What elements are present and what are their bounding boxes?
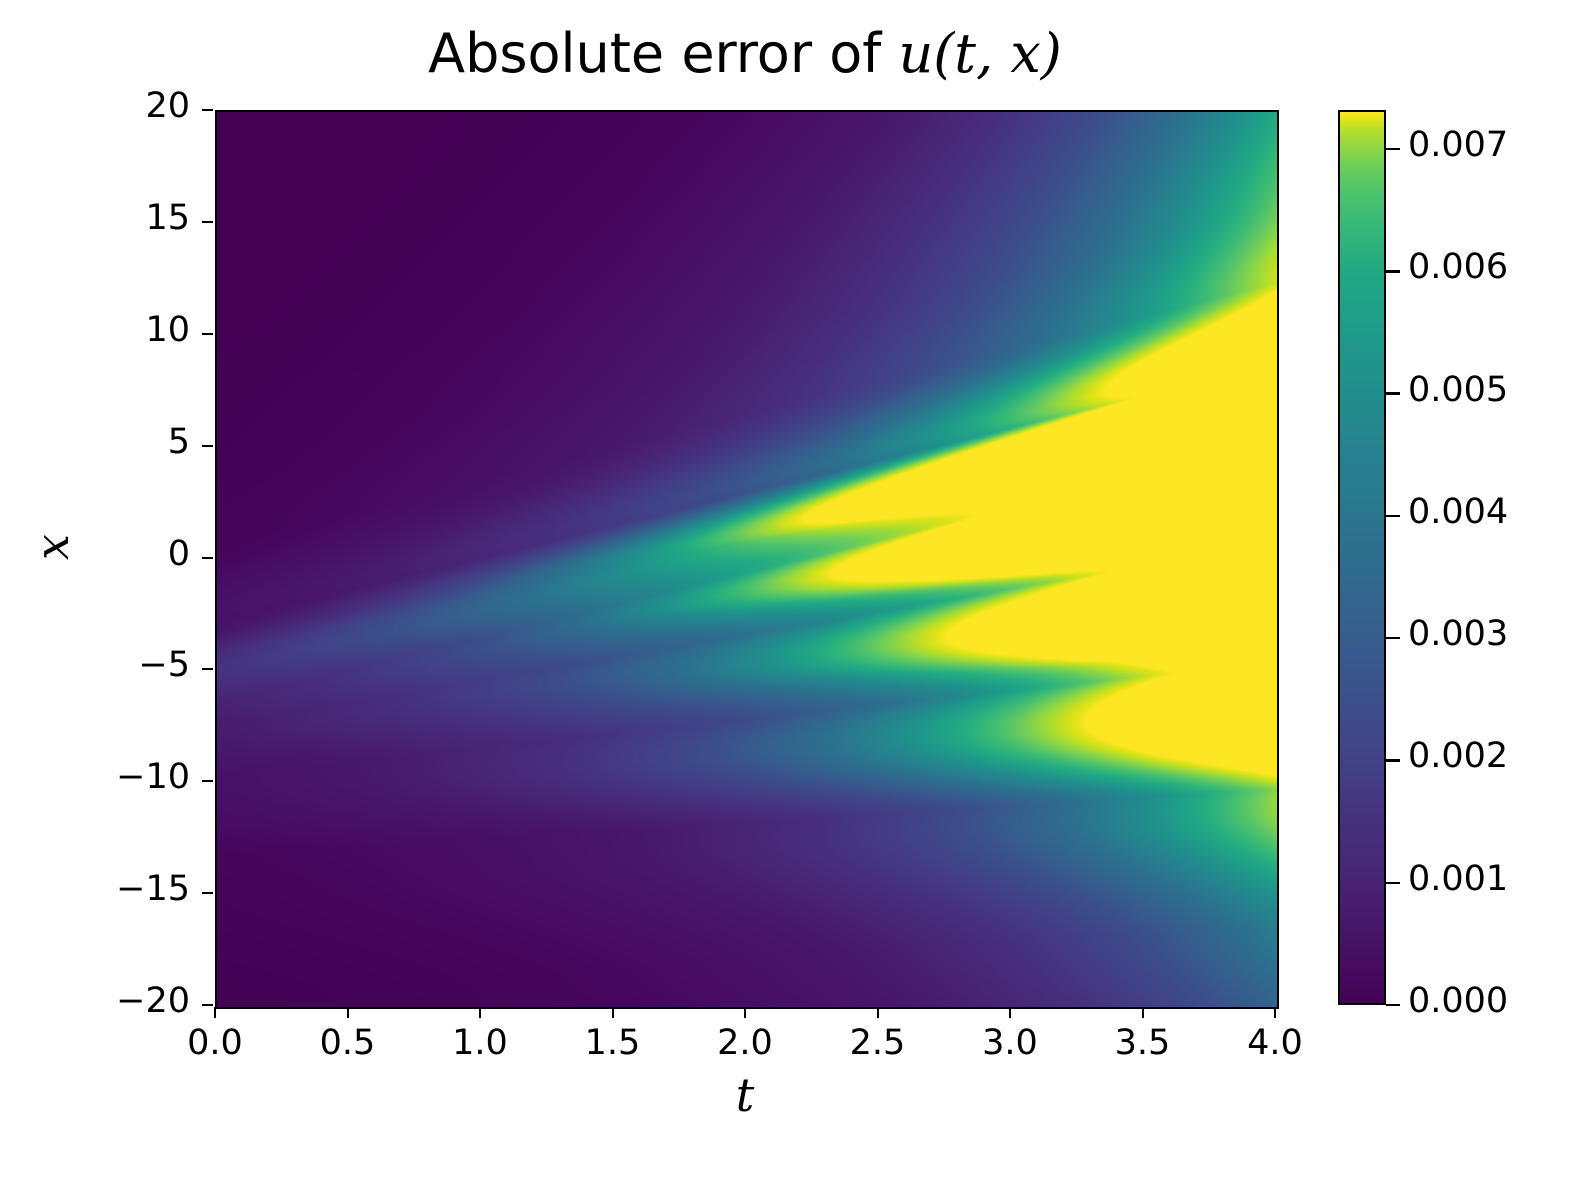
y-tick-label: −10 — [40, 757, 190, 797]
x-tick-label: 4.0 — [1215, 1023, 1335, 1063]
colorbar-gradient — [1338, 110, 1386, 1005]
heatmap-image — [217, 112, 1277, 1007]
x-tick-label: 3.5 — [1083, 1023, 1203, 1063]
y-tick-mark — [202, 445, 213, 447]
heatmap-plot-area — [215, 110, 1279, 1009]
colorbar-tick-mark — [1386, 148, 1400, 150]
title-prefix: Absolute error of — [428, 22, 898, 85]
colorbar-tick-label: 0.003 — [1408, 614, 1508, 654]
x-tick-label: 1.0 — [420, 1023, 540, 1063]
y-tick-label: 20 — [40, 86, 190, 126]
colorbar-tick-label: 0.005 — [1408, 370, 1508, 410]
x-tick-label: 3.0 — [950, 1023, 1070, 1063]
y-axis-label: x — [25, 447, 79, 647]
x-tick-mark — [214, 1007, 216, 1018]
x-tick-mark — [744, 1007, 746, 1018]
x-tick-mark — [1142, 1007, 1144, 1018]
x-tick-mark — [1274, 1007, 1276, 1018]
y-tick-mark — [202, 109, 213, 111]
x-tick-mark — [877, 1007, 879, 1018]
x-tick-label: 0.0 — [155, 1023, 275, 1063]
x-tick-label: 2.0 — [685, 1023, 805, 1063]
x-tick-label: 1.5 — [553, 1023, 673, 1063]
colorbar-tick-label: 0.004 — [1408, 492, 1508, 532]
y-tick-mark — [202, 780, 213, 782]
x-tick-mark — [612, 1007, 614, 1018]
figure-root: Absolute error of u(t, x) 0.00.51.01.52.… — [0, 0, 1577, 1183]
y-tick-label: −5 — [40, 645, 190, 685]
y-tick-label: 15 — [40, 198, 190, 238]
colorbar-tick-label: 0.001 — [1408, 859, 1508, 899]
y-tick-mark — [202, 892, 213, 894]
y-tick-label: −15 — [40, 869, 190, 909]
colorbar-tick-label: 0.000 — [1408, 981, 1508, 1021]
x-axis-label: t — [215, 1068, 1275, 1122]
colorbar-tick-mark — [1386, 392, 1400, 394]
y-tick-mark — [202, 221, 213, 223]
x-tick-mark — [1009, 1007, 1011, 1018]
y-tick-mark — [202, 668, 213, 670]
y-tick-mark — [202, 1004, 213, 1006]
y-tick-mark — [202, 557, 213, 559]
y-tick-label: −20 — [40, 981, 190, 1021]
colorbar-tick-label: 0.002 — [1408, 736, 1508, 776]
page-title: Absolute error of u(t, x) — [215, 22, 1275, 85]
colorbar-tick-mark — [1386, 1004, 1400, 1006]
x-tick-mark — [347, 1007, 349, 1018]
x-tick-label: 0.5 — [288, 1023, 408, 1063]
colorbar-tick-label: 0.006 — [1408, 247, 1508, 287]
colorbar-tick-mark — [1386, 270, 1400, 272]
x-tick-label: 2.5 — [818, 1023, 938, 1063]
colorbar-tick-mark — [1386, 637, 1400, 639]
colorbar-tick-mark — [1386, 759, 1400, 761]
y-tick-label: 10 — [40, 310, 190, 350]
x-tick-mark — [479, 1007, 481, 1018]
colorbar-tick-mark — [1386, 515, 1400, 517]
title-math: u(t, x) — [898, 22, 1061, 85]
colorbar: 0.0070.0060.0050.0040.0030.0020.0010.000 — [1338, 110, 1386, 1005]
y-tick-mark — [202, 333, 213, 335]
colorbar-tick-mark — [1386, 882, 1400, 884]
colorbar-tick-label: 0.007 — [1408, 125, 1508, 165]
